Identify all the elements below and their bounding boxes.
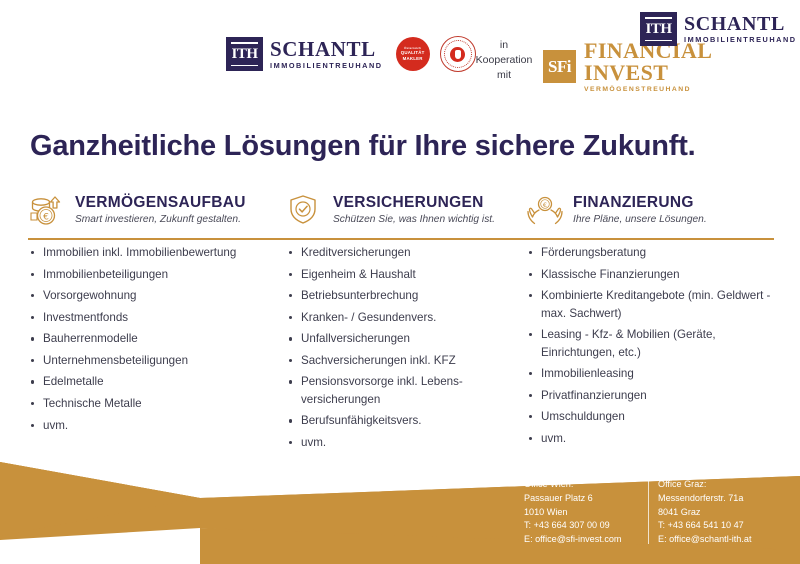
list-item: Unfallversicherungen [286,330,526,347]
office-wien-street: Passauer Platz 6 [524,492,622,506]
footer-vertical-divider [648,476,649,544]
list-item: Immobilienbeteiligungen [28,266,286,283]
list-item: Klassische Finanzierungen [526,266,774,283]
office-graz-phone[interactable]: T: +43 664 541 10 47 [658,519,751,533]
ith-monogram-label-topright: ITH [644,21,672,38]
sfi-financial-invest-logo: SFi FINANCIAL INVEST VERMÖGENSTREUHAND [543,40,800,93]
ith-monogram-icon-topright: ITH [640,12,677,46]
column-title-3: FINANZIERUNG [573,195,707,211]
office-graz-email[interactable]: E: office@schantl-ith.at [658,533,751,547]
service-list-vermoegensaufbau: Immobilien inkl. Immobilienbewertung Imm… [28,244,286,434]
column-title-group-3: FINANZIERUNG Ihre Pläne, unsere Lösungen… [573,195,707,226]
list-item: Bauherrenmodelle [28,330,286,347]
list-item: Kombinierte Kreditangebote (min. Geldwer… [526,287,774,322]
service-columns: € VERMÖGENSAUFBAU Smart investieren, Zuk… [28,188,774,456]
column-subtitle-3: Ihre Pläne, unsere Lösungen. [573,215,707,225]
list-item: Pensionsvorsorge inkl. Lebens-versicheru… [286,373,526,408]
column-header-finanzierung: € FINANZIERUNG Ihre Pläne, unsere Lösung… [526,188,774,232]
office-graz-contact: Office Graz: Messendorferstr. 71a 8041 G… [658,478,751,547]
list-item: Leasing - Kfz- & Mobilien (Geräte, Einri… [526,326,774,361]
sfi-wordmark: FINANCIAL INVEST VERMÖGENSTREUHAND [584,40,800,93]
seal-core [450,47,465,62]
ith-bar-bottom [231,65,258,67]
qualitaetsmakler-badge-text: Österreich QUALITÄT MAKLER [401,47,425,61]
shield-check-icon [286,193,324,227]
coins-euro-growth-icon: € [28,193,66,227]
column-versicherungen: VERSICHERUNGEN Schützen Sie, was Ihnen w… [286,188,526,456]
sfi-subtitle: VERMÖGENSTREUHAND [584,87,800,94]
schantl-wordmark-topright: SCHANTL IMMOBILIENTREUHAND [684,14,797,43]
ith-bar-bottom-tr [645,40,672,42]
ith-monogram-icon: ITH [226,37,263,71]
column-title-group-2: VERSICHERUNGEN Schützen Sie, was Ihnen w… [333,195,495,226]
certification-seal-icon [440,36,476,72]
list-item: Edelmetalle [28,373,286,390]
office-graz-city: 8041 Graz [658,506,751,520]
qualitaetsmakler-badge-icon: Österreich QUALITÄT MAKLER [396,37,430,71]
svg-text:€: € [543,201,547,209]
list-item: uvm. [28,417,286,434]
page-title: Ganzheitliche Lösungen für Ihre sichere … [30,130,696,163]
column-finanzierung: € FINANZIERUNG Ihre Pläne, unsere Lösung… [526,188,774,456]
office-wien-label: Office Wien: [524,478,622,492]
list-item: Immobilien inkl. Immobilienbewertung [28,244,286,261]
column-subtitle-2: Schützen Sie, was Ihnen wichtig ist. [333,215,495,225]
list-item: Vorsorgewohnung [28,287,286,304]
schantl-ith-logo-lockup: ITH SCHANTL IMMOBILIENTREUHAND Österreic… [226,36,476,72]
list-item: Investmentfonds [28,309,286,326]
list-item: Privatfinanzierungen [526,387,774,404]
ith-monogram-label: ITH [230,46,258,63]
column-title-1: VERMÖGENSAUFBAU [75,195,246,211]
header-logo-bar: ITH SCHANTL IMMOBILIENTREUHAND Österreic… [0,0,800,100]
ith-bar-top-tr [645,17,672,19]
cooperation-label: in Kooperation mit [473,38,535,83]
svg-text:€: € [43,212,49,222]
office-graz-street: Messendorferstr. 71a [658,492,751,506]
schantl-wordmark: SCHANTL IMMOBILIENTREUHAND [270,39,383,69]
schantl-ith-logo-topright: ITH SCHANTL IMMOBILIENTREUHAND [640,12,797,46]
list-item: Sachversicherungen inkl. KFZ [286,352,526,369]
sfi-name: FINANCIAL INVEST [584,40,800,84]
list-item: Betriebsunterbrechung [286,287,526,304]
office-graz-label: Office Graz: [658,478,751,492]
schantl-subtitle-topright: IMMOBILIENTREUHAND [684,36,797,43]
badge-top-label: Österreich [401,47,425,51]
badge-line-2: MAKLER [401,56,425,61]
list-item: Kreditversicherungen [286,244,526,261]
ith-bar-top [231,42,258,44]
column-header-versicherungen: VERSICHERUNGEN Schützen Sie, was Ihnen w… [286,188,526,232]
hands-holding-coin-icon: € [526,193,564,227]
column-header-vermoegensaufbau: € VERMÖGENSAUFBAU Smart investieren, Zuk… [28,188,286,232]
column-subtitle-1: Smart investieren, Zukunft gestalten. [75,215,246,225]
schantl-subtitle: IMMOBILIENTREUHAND [270,62,383,69]
office-wien-city: 1010 Wien [524,506,622,520]
office-wien-email[interactable]: E: office@sfi-invest.com [524,533,622,547]
column-vermoegensaufbau: € VERMÖGENSAUFBAU Smart investieren, Zuk… [28,188,286,456]
column-title-group-1: VERMÖGENSAUFBAU Smart investieren, Zukun… [75,195,246,226]
schantl-name: SCHANTL [270,39,383,60]
list-item: Eigenheim & Haushalt [286,266,526,283]
schantl-name-topright: SCHANTL [684,14,797,34]
list-item: Technische Metalle [28,395,286,412]
poster-page: ITH SCHANTL IMMOBILIENTREUHAND Österreic… [0,0,800,564]
list-item: Immobilienleasing [526,365,774,382]
list-item: Berufsunfähigkeitsvers. [286,412,526,429]
list-item: Kranken- / Gesundenvers. [286,309,526,326]
sfi-monogram-icon: SFi [543,50,576,83]
service-list-versicherungen: Kreditversicherungen Eigenheim & Haushal… [286,244,526,451]
office-wien-contact: Office Wien: Passauer Platz 6 1010 Wien … [524,478,622,547]
list-item: Umschuldungen [526,408,774,425]
office-wien-phone[interactable]: T: +43 664 307 00 09 [524,519,622,533]
column-title-2: VERSICHERUNGEN [333,195,495,211]
list-item: Unternehmensbeteiligungen [28,352,286,369]
list-item: Förderungsberatung [526,244,774,261]
service-list-finanzierung: Förderungsberatung Klassische Finanzieru… [526,244,774,447]
